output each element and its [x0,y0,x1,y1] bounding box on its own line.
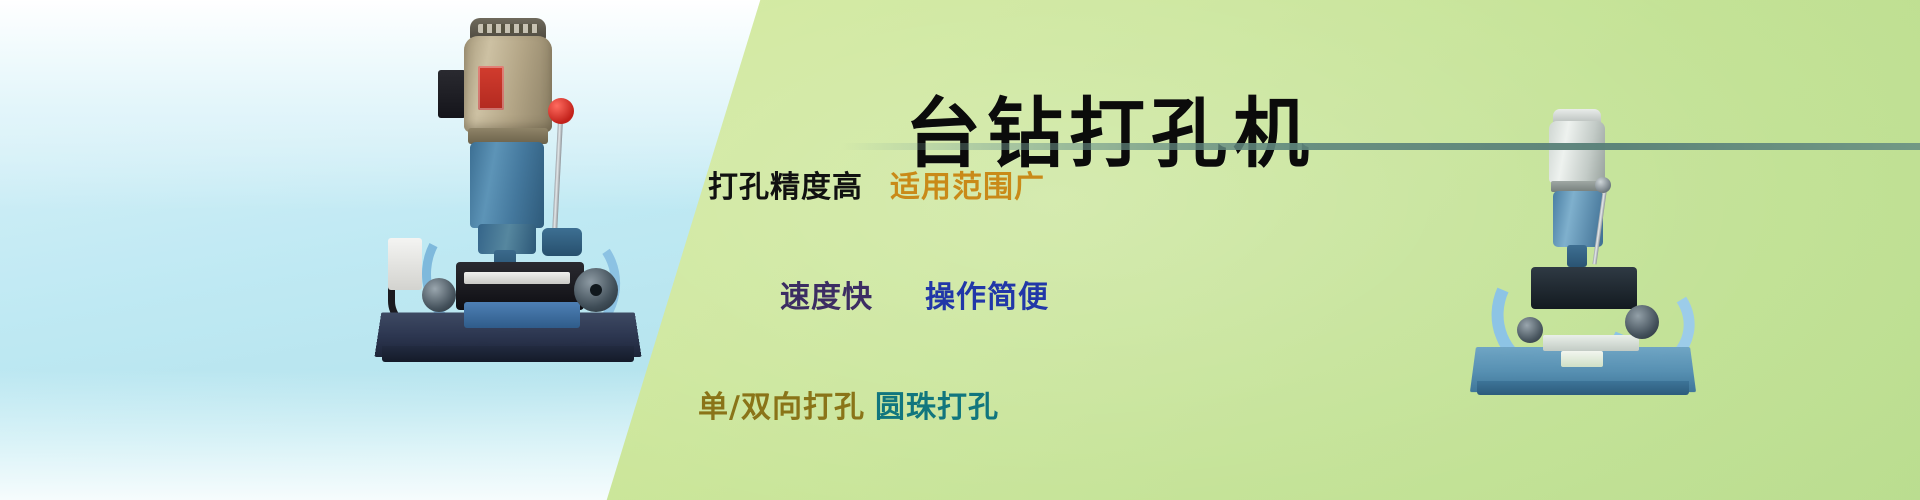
right-fixture-icon [1531,267,1637,309]
left-handwheel-icon [574,268,618,312]
left-handwheel-secondary-icon [422,278,456,312]
feature-item-fast-speed: 速度快 [780,278,873,318]
feature-item-wide-application: 适用范围广 [890,168,1045,208]
right-machine-photo [1465,105,1705,405]
right-handwheel-secondary-icon [1517,317,1543,343]
right-base-sticker-icon [1561,351,1603,367]
feature-list: 打孔精度高 适用范围广 速度快 操作简便 单/双向打孔 圆珠打孔 使用寿命长 [680,168,1320,388]
feature-item-easy-operation: 操作简便 [925,278,1049,318]
left-control-box-icon [388,238,422,290]
title-divider [840,143,1920,150]
feature-row-3: 单/双向打孔 圆珠打孔 [680,388,1320,443]
left-vise-icon [464,302,580,328]
feature-item-ballpoint-drilling: 圆珠打孔 [875,388,999,428]
right-motor-icon [1549,121,1605,183]
left-lever-hub-icon [542,228,582,256]
left-spindle-housing-icon [470,142,544,228]
left-motor-label-icon [478,66,504,110]
right-quill-icon [1567,245,1587,267]
left-machine-photo [360,10,660,380]
feature-item-drilling-accuracy: 打孔精度高 [708,168,863,208]
left-junction-box-icon [438,70,466,118]
left-feed-lever-icon [552,120,563,236]
left-fixture-plate-icon [464,272,570,284]
left-lever-knob-icon [548,98,574,124]
feature-item-single-double-drilling: 单/双向打孔 [698,388,865,428]
left-base-table-edge-icon [382,346,634,362]
product-banner: 台钻打孔机 打孔精度高 适用范围广 速度快 操作简便 单/双向打孔 圆珠打孔 使… [0,0,1920,500]
right-base-table-edge-icon [1477,381,1689,395]
feature-row-1: 打孔精度高 适用范围广 [680,168,1320,223]
right-lever-knob-icon [1595,177,1611,193]
right-work-plate-icon [1543,335,1639,351]
feature-row-2: 速度快 操作简便 [680,278,1320,333]
right-handwheel-icon [1625,305,1659,339]
